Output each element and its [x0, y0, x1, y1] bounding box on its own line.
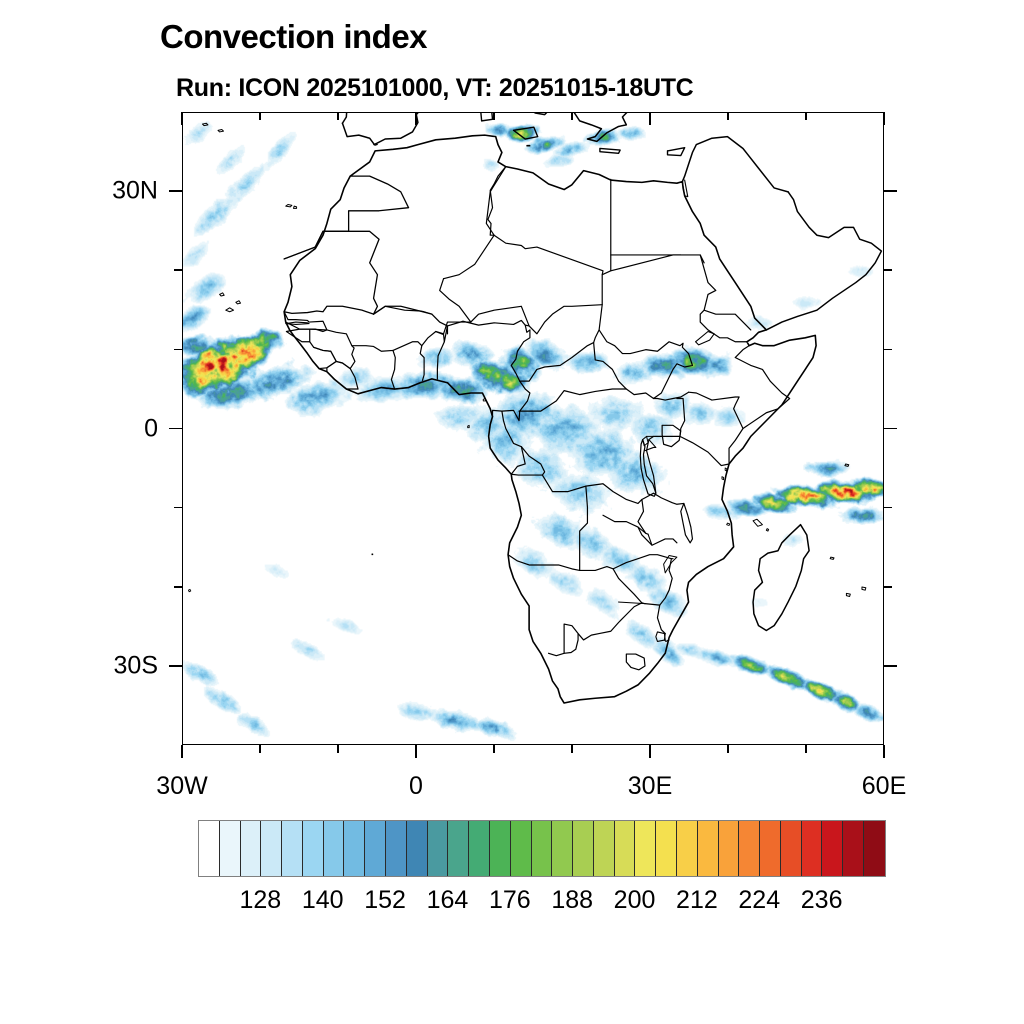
colorbar-cell — [802, 821, 823, 876]
y-axis-major-tick-right — [884, 428, 897, 430]
x-axis-major-tick — [181, 745, 183, 758]
x-axis-minor-tick — [727, 745, 729, 753]
run-validtime-subtitle: Run: ICON 2025101000, VT: 20251015-18UTC — [176, 74, 693, 103]
colorbar-tick-label: 164 — [427, 886, 469, 915]
x-axis-major-tick-top — [649, 112, 651, 125]
x-axis-major-tick — [415, 745, 417, 758]
colorbar-cell — [781, 821, 802, 876]
y-axis-major-tick-right — [884, 665, 897, 667]
y-axis-minor-tick-right — [884, 349, 892, 351]
colorbar-cell — [615, 821, 636, 876]
x-axis-label: 30E — [628, 772, 672, 801]
colorbar-tick-label: 176 — [489, 886, 531, 915]
colorbar-cell — [698, 821, 719, 876]
x-axis-minor-tick — [805, 745, 807, 753]
x-axis-major-tick-top — [181, 112, 183, 125]
y-axis-minor-tick — [174, 269, 182, 271]
y-axis-minor-tick-right — [884, 269, 892, 271]
colorbar-cell — [365, 821, 386, 876]
y-axis-minor-tick — [174, 349, 182, 351]
y-axis-label: 30S — [114, 651, 158, 680]
colorbar-cell — [719, 821, 740, 876]
colorbar-tick-label: 188 — [551, 886, 593, 915]
x-axis-major-tick-top — [415, 112, 417, 125]
colorbar-cell — [864, 821, 885, 876]
colorbar-cell — [261, 821, 282, 876]
colorbar-cell — [532, 821, 553, 876]
x-axis-minor-tick-top — [805, 112, 807, 120]
y-axis-major-tick — [169, 190, 182, 192]
colorbar-tick-label: 236 — [801, 886, 843, 915]
y-axis-major-tick — [169, 665, 182, 667]
colorbar-tick-label: 200 — [614, 886, 656, 915]
colorbar-cell — [573, 821, 594, 876]
x-axis-minor-tick-top — [571, 112, 573, 120]
colorbar-cell — [635, 821, 656, 876]
colorbar-cell — [199, 821, 220, 876]
x-axis-major-tick-top — [883, 112, 885, 125]
colorbar-cell — [469, 821, 490, 876]
colorbar-cell — [241, 821, 262, 876]
colorbar-cell — [386, 821, 407, 876]
colorbar-tick-label: 128 — [240, 886, 282, 915]
colorbar-cell — [324, 821, 345, 876]
x-axis-minor-tick — [337, 745, 339, 753]
x-axis-minor-tick — [493, 745, 495, 753]
x-axis-minor-tick-top — [337, 112, 339, 120]
y-axis-major-tick-right — [884, 190, 897, 192]
y-axis-minor-tick-right — [884, 507, 892, 509]
colorbar-cell — [739, 821, 760, 876]
y-axis-label: 30N — [112, 177, 158, 206]
colorbar-cell — [760, 821, 781, 876]
y-axis-minor-tick — [174, 586, 182, 588]
colorbar-cell — [677, 821, 698, 876]
colorbar-cell — [220, 821, 241, 876]
colorbar-cell — [407, 821, 428, 876]
x-axis-major-tick — [883, 745, 885, 758]
colorbar-tick-label: 224 — [738, 886, 780, 915]
coastline-and-border-overlay — [183, 113, 883, 744]
x-axis-minor-tick-top — [493, 112, 495, 120]
colorbar-cell — [552, 821, 573, 876]
colorbar-cell — [843, 821, 864, 876]
colorbar-cell — [448, 821, 469, 876]
colorbar-tick-label: 152 — [364, 886, 406, 915]
x-axis-label: 0 — [409, 772, 423, 801]
x-axis-major-tick — [649, 745, 651, 758]
y-axis-minor-tick-right — [884, 586, 892, 588]
x-axis-minor-tick-top — [727, 112, 729, 120]
y-axis-label: 0 — [144, 414, 158, 443]
colorbar-cell — [303, 821, 324, 876]
x-axis-label: 60E — [862, 772, 906, 801]
x-axis-minor-tick — [259, 745, 261, 753]
convection-index-map-figure: Convection index Run: ICON 2025101000, V… — [0, 0, 1024, 1024]
colorbar-cell — [344, 821, 365, 876]
x-axis-minor-tick — [571, 745, 573, 753]
colorbar-cell — [511, 821, 532, 876]
map-plot-area — [182, 112, 884, 745]
colorbar-cell — [656, 821, 677, 876]
colorbar-cell — [594, 821, 615, 876]
colorbar-cell — [822, 821, 843, 876]
colorbar-tick-label: 140 — [302, 886, 344, 915]
colorbar — [198, 820, 886, 877]
colorbar-tick-label: 212 — [676, 886, 718, 915]
colorbar-cell — [428, 821, 449, 876]
page-title: Convection index — [160, 18, 427, 56]
x-axis-minor-tick-top — [259, 112, 261, 120]
colorbar-cell — [490, 821, 511, 876]
y-axis-major-tick — [169, 428, 182, 430]
colorbar-cell — [282, 821, 303, 876]
x-axis-label: 30W — [156, 772, 207, 801]
y-axis-minor-tick — [174, 507, 182, 509]
